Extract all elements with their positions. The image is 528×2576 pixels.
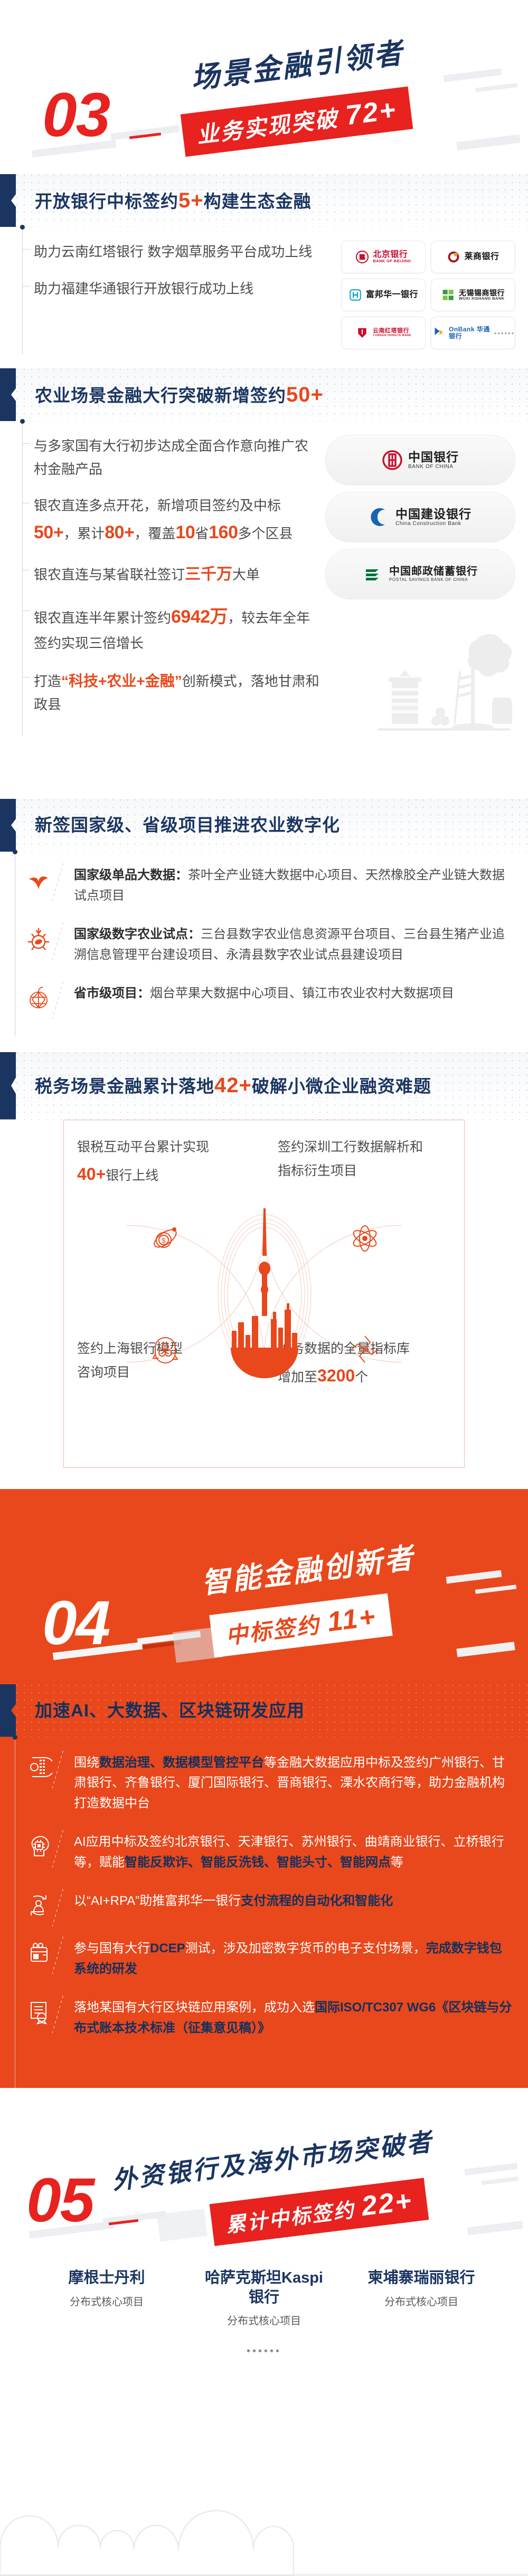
overseas-bank-item: 哈萨克斯坦Kaspi银行 分布式核心项目 [201, 2268, 327, 2327]
bullet-text: 落地某国有大行区块链应用案例，成功入选国际ISO/TC307 WG6《区块链与分… [74, 1998, 514, 2039]
overseas-bank-name: 摩根士丹利 [43, 2268, 170, 2287]
bullet-text: 省市级项目：烟台苹果大数据中心项目、镇江市农业农村大数据项目 [74, 984, 515, 1004]
section-banner-agriculture: 农业场景金融大行突破新增签约50+ [0, 368, 528, 421]
logo-card-bank-of-china: 中国银行 BANK OF CHINA [325, 435, 515, 485]
section-banner-ai: 加速AI、大数据、区块链研发应用 [0, 1684, 528, 1737]
rail-dot [20, 419, 25, 424]
bullet-divider [59, 984, 68, 1013]
hero-subtitle-box-03: 业务实现突破 72+ [181, 87, 413, 157]
logo-card-fubon-huayi-bank: 富邦华一银行 [341, 279, 426, 311]
coin-orbit-icon: $ [149, 1222, 182, 1255]
hero-subtitle-value-04: 11+ [326, 1601, 379, 1637]
content-agriculture: 与多家国有大行初步达成全面合作意向推广农村金融产品 银农直连多点开花，新增项目签… [0, 421, 528, 736]
svg-text:TAX: TAX [360, 1347, 371, 1353]
wheat-gear-icon [24, 924, 53, 953]
rail-dot [20, 225, 25, 230]
deco-bar [482, 2177, 518, 2185]
bullet-national-digital-agri-pilot: 国家级数字农业试点：三台县数字农业信息资源平台项目、三台县生猪产业追溯信息管理平… [24, 924, 515, 966]
bullet-ai-applications: AI应用中标及签约北京银行、天津银行、苏州银行、曲靖商业银行、立桥银行等，赋能智… [24, 1832, 514, 1873]
hero-title-04: 智能金融创新者 [199, 1534, 417, 1601]
logo-label-en: WUXI XISHANG BANK [459, 297, 505, 301]
china-construction-bank-logo-icon [369, 507, 390, 528]
logo-label-cn: 北京银行 [373, 251, 411, 260]
hero-subtitle-value-03: 72+ [344, 94, 399, 131]
paragraph-open-bank-2: 助力福建华通银行开放银行成功上线 [32, 278, 336, 301]
hero-section-04: 04 智能金融创新者 中标签约 11+ [0, 1489, 528, 1668]
laishang-bank-logo-icon [447, 250, 460, 264]
wuxi-xishang-bank-logo-icon [441, 288, 455, 302]
svg-text:$: $ [162, 1236, 166, 1245]
agriculture-illustration [367, 609, 515, 741]
section-title-digital-agriculture: 新签国家级、省级项目推进农业数字化 [35, 814, 340, 837]
deco-bar [467, 2221, 523, 2236]
deco-bar [446, 1570, 502, 1583]
banner-arrow-icon [0, 799, 16, 852]
deco-block [157, 2209, 208, 2242]
hero-number-04: 04 [42, 1587, 109, 1659]
overseas-bank-project: 分布式核心项目 [43, 2293, 170, 2308]
logo-more-ellipsis: •••••• [494, 329, 515, 337]
overseas-bank-name: 哈萨克斯坦Kaspi银行 [201, 2268, 327, 2307]
connector-rail [22, 227, 23, 355]
logo-label-cn: 中国银行 [408, 451, 459, 464]
bullet-divider [59, 1998, 68, 2027]
hero-subtitle-prefix-05: 累计中标签约 [224, 2199, 363, 2237]
logo-label-cn: 无锡锡商银行 [459, 289, 505, 297]
section-banner-digital-agriculture: 新签国家级、省级项目推进农业数字化 [0, 799, 528, 852]
logo-label-en: China Construction Bank [395, 521, 472, 527]
quadrant-text-top-left: 银税互动平台累计实现 40+银行上线 [77, 1136, 235, 1190]
bullet-dcep: 参与国有大行DCEP测试，涉及加密数字货币的电子支付场景，完成数字钱包系统的研发 [24, 1939, 514, 1980]
logo-card-bank-of-beijing: 北京银行 BANK OF BEIJING [341, 241, 426, 273]
orange-band-section-04: 04 智能金融创新者 中标签约 11+ 加速AI、大数据、区块链研发应用 [0, 1489, 528, 2088]
onbank-huatong-bank-logo-icon [431, 326, 445, 340]
logo-card-laishang-bank: 莱商银行 [431, 241, 515, 273]
bullet-text: 国家级单品大数据：茶叶全产业链大数据中心项目、天然橡胶全产业链大数据试点项目 [74, 865, 515, 907]
logo-card-china-construction-bank: 中国建设银行 China Construction Bank [325, 492, 515, 542]
ai-brain-chip-icon [24, 1832, 53, 1861]
yunnan-hongta-bank-logo-icon [355, 326, 369, 340]
content-digital-agriculture: 国家级单品大数据：茶叶全产业链大数据中心项目、天然橡胶全产业链大数据试点项目 国… [0, 852, 528, 1036]
bullet-divider [59, 924, 68, 954]
deco-bar [444, 68, 502, 82]
logo-label-en: YUNNAN HONGTA BANK [373, 335, 411, 338]
paragraph-agri-3: 银农直连与某省联社签订三千万大单 [32, 561, 320, 588]
hero-subtitle-prefix-04: 中标签约 [224, 1611, 329, 1648]
logo-label-cn: 莱商银行 [464, 253, 499, 262]
overseas-bank-project: 分布式核心项目 [358, 2293, 485, 2308]
hero-section-03: 03 场景金融引领者 业务实现突破 72+ [0, 0, 528, 174]
hero-section-05: 05 外资银行及海外市场突破者 累计中标签约 22+ [0, 2088, 528, 2246]
section-banner-tax: 税务场景金融累计落地42+破解小微企业融资难题 [0, 1052, 528, 1120]
city-skyline-icon [213, 1189, 316, 1400]
section-title-number: 42+ [214, 1074, 252, 1097]
connector-rail [15, 852, 15, 1036]
bullet-divider [59, 1753, 68, 1782]
bank-of-china-logo-icon [382, 450, 403, 471]
section-title-number: 5+ [178, 189, 204, 212]
logo-label-cn: 中国建设银行 [395, 508, 472, 521]
logo-label-en: POSTAL SAVINGS BANK OF CHINA [389, 578, 478, 583]
logo-card-yunnan-hongta-bank: 云南红塔银行 YUNNAN HONGTA BANK [341, 317, 426, 349]
bullet-text: 国家级数字农业试点：三台县数字农业信息资源平台项目、三台县生猪产业追溯信息管理平… [74, 924, 515, 966]
bullet-national-product-bigdata: 国家级单品大数据：茶叶全产业链大数据中心项目、天然橡胶全产业链大数据试点项目 [24, 865, 515, 907]
paragraph-agri-4: 银农直连半年累计签约6942万，较去年全年签约实现三倍增长 [32, 602, 320, 655]
logo-label-en: BANK OF CHINA [408, 464, 459, 470]
tax-cycle-icon: TAX [348, 1333, 381, 1366]
deco-bar [465, 2163, 518, 2176]
blockchain-certificate-icon [24, 1998, 53, 2026]
logo-label-cn: 富邦华一银行 [366, 291, 418, 300]
connector-rail [22, 421, 23, 736]
bullet-divider [59, 1891, 68, 1921]
rail-dot [13, 850, 17, 854]
overseas-more-ellipsis: •••••• [0, 2345, 528, 2358]
atom-icon [348, 1222, 381, 1255]
rail-dot [13, 1735, 17, 1740]
deco-bar [475, 1585, 516, 1594]
section-banner-open-bank: 开放银行中标签约5+构建生态金融 [0, 174, 528, 227]
banner-arrow-icon [0, 368, 16, 421]
deco-bar [111, 125, 180, 140]
logo-card-onbank-huatong-bank: OnBank 华通银行 •••••• [431, 317, 515, 349]
banner-arrow-icon [0, 1052, 16, 1120]
logo-label-cn: 中国邮政储蓄银行 [389, 566, 478, 577]
fubon-huayi-bank-logo-icon [348, 288, 362, 302]
hero-subtitle-prefix-03: 业务实现突破 [195, 105, 347, 148]
bank-of-beijing-logo-icon [355, 250, 369, 264]
digital-wallet-icon [24, 1939, 53, 1967]
paragraph-agri-2: 银农直连多点开花，新增项目签约及中标50+，累计80+，覆盖10省160多个区县 [32, 494, 320, 548]
rpa-robot-icon [24, 1891, 53, 1920]
hero-subtitle-box-05: 累计中标签约 22+ [210, 2178, 429, 2246]
paragraph-agri-5: 打造“科技+农业+金融”创新模式，落地甘肃和政县 [32, 669, 320, 717]
bullet-text: 参与国有大行DCEP测试，涉及加密数字货币的电子支付场景，完成数字钱包系统的研发 [74, 1939, 514, 1980]
hero-number-05: 05 [26, 2164, 93, 2236]
paragraph-open-bank-1: 助力云南红塔银行 数字烟草服务平台成功上线 [32, 241, 336, 264]
hero-number-03: 03 [42, 79, 109, 151]
logo-card-postal-savings-bank: 中国邮政储蓄银行 POSTAL SAVINGS BANK OF CHINA [325, 549, 515, 599]
bullet-data-governance: 围绕数据治理、数据模型管控平台等金融大数据应用中标及签约广州银行、甘肃银行、齐鲁… [24, 1753, 514, 1815]
content-open-bank: 助力云南红塔银行 数字烟草服务平台成功上线 助力福建华通银行开放银行成功上线 北… [0, 227, 528, 355]
overseas-bank-name: 柬埔寨瑞丽银行 [358, 2268, 485, 2287]
banner-arrow-icon [0, 174, 16, 227]
quadrant-text-top-right: 签约深圳工行数据解析和 指标衍生项目 [278, 1136, 436, 1183]
postal-savings-bank-logo-icon [363, 564, 384, 585]
model-cycle-icon [149, 1333, 182, 1366]
footer-cloud-decoration [0, 2507, 528, 2576]
banner-arrow-icon [0, 1684, 16, 1737]
deco-bar [475, 83, 517, 92]
tax-quadrant-infographic: 银税互动平台累计实现 40+银行上线 签约深圳工行数据解析和 指标衍生项目 签约… [0, 1120, 528, 1489]
overseas-banks-list: 摩根士丹利 分布式核心项目 哈萨克斯坦Kaspi银行 分布式核心项目 柬埔寨瑞丽… [0, 2246, 528, 2327]
data-governance-icon [24, 1753, 53, 1781]
section-title-ai: 加速AI、大数据、区块链研发应用 [35, 1699, 305, 1722]
bullet-text: 以“AI+RPA”助推富邦华一银行支付流程的自动化和智能化 [74, 1891, 514, 1912]
logo-label-cn: OnBank 华通银行 [449, 326, 491, 339]
section-title-open-bank: 开放银行中标签约5+构建生态金融 [35, 187, 312, 215]
section-title-tax: 税务场景金融累计落地42+破解小微企业融资难题 [35, 1072, 431, 1100]
bank-logo-stack-agriculture: 中国银行 BANK OF CHINA 中国建设银行 China Construc… [325, 435, 515, 599]
logo-label-en: BANK OF BEIJING [373, 259, 411, 263]
apple-network-icon [24, 984, 53, 1012]
hero-subtitle-value-05: 22+ [360, 2186, 414, 2222]
section-title-number: 50+ [286, 383, 324, 406]
hero-title-03: 场景金融引领者 [188, 30, 407, 97]
overseas-bank-item: 摩根士丹利 分布式核心项目 [43, 2268, 170, 2327]
deco-bar [456, 1642, 515, 1657]
bullet-divider [59, 1939, 68, 1968]
bank-logo-grid-open-bank: 北京银行 BANK OF BEIJING 莱商银行 [341, 241, 515, 349]
paragraph-agri-1: 与多家国有大行初步达成全面合作意向推广农村金融产品 [32, 435, 320, 481]
deco-bar [456, 135, 520, 151]
overseas-bank-item: 柬埔寨瑞丽银行 分布式核心项目 [358, 2268, 485, 2327]
connector-rail [15, 1737, 15, 2088]
section-title-agriculture: 农业场景金融大行突破新增签约50+ [35, 381, 324, 409]
hero-subtitle-box-04: 中标签约 11+ [209, 1593, 392, 1657]
bullet-blockchain-iso: 落地某国有大行区块链应用案例，成功入选国际ISO/TC307 WG6《区块链与分… [24, 1998, 514, 2039]
tea-leaf-icon [24, 865, 53, 894]
bullet-divider [59, 865, 68, 895]
bullet-ai-rpa: 以“AI+RPA”助推富邦华一银行支付流程的自动化和智能化 [24, 1891, 514, 1921]
overseas-bank-project: 分布式核心项目 [201, 2312, 327, 2327]
bullet-divider [59, 1832, 68, 1862]
bullet-text: 围绕数据治理、数据模型管控平台等金融大数据应用中标及签约广州银行、甘肃银行、齐鲁… [74, 1753, 514, 1815]
content-ai: 围绕数据治理、数据模型管控平台等金融大数据应用中标及签约广州银行、甘肃银行、齐鲁… [0, 1737, 528, 2088]
infographic-page: 03 场景金融引领者 业务实现突破 72+ 开放银行中标签约5+构建生态金融 助… [0, 0, 528, 2576]
logo-card-wuxi-xishang-bank: 无锡锡商银行 WUXI XISHANG BANK [431, 279, 515, 311]
bullet-text: AI应用中标及签约北京银行、天津银行、苏州银行、曲靖商业银行、立桥银行等，赋能智… [74, 1832, 514, 1873]
bullet-provincial-projects: 省市级项目：烟台苹果大数据中心项目、镇江市农业农村大数据项目 [24, 984, 515, 1013]
